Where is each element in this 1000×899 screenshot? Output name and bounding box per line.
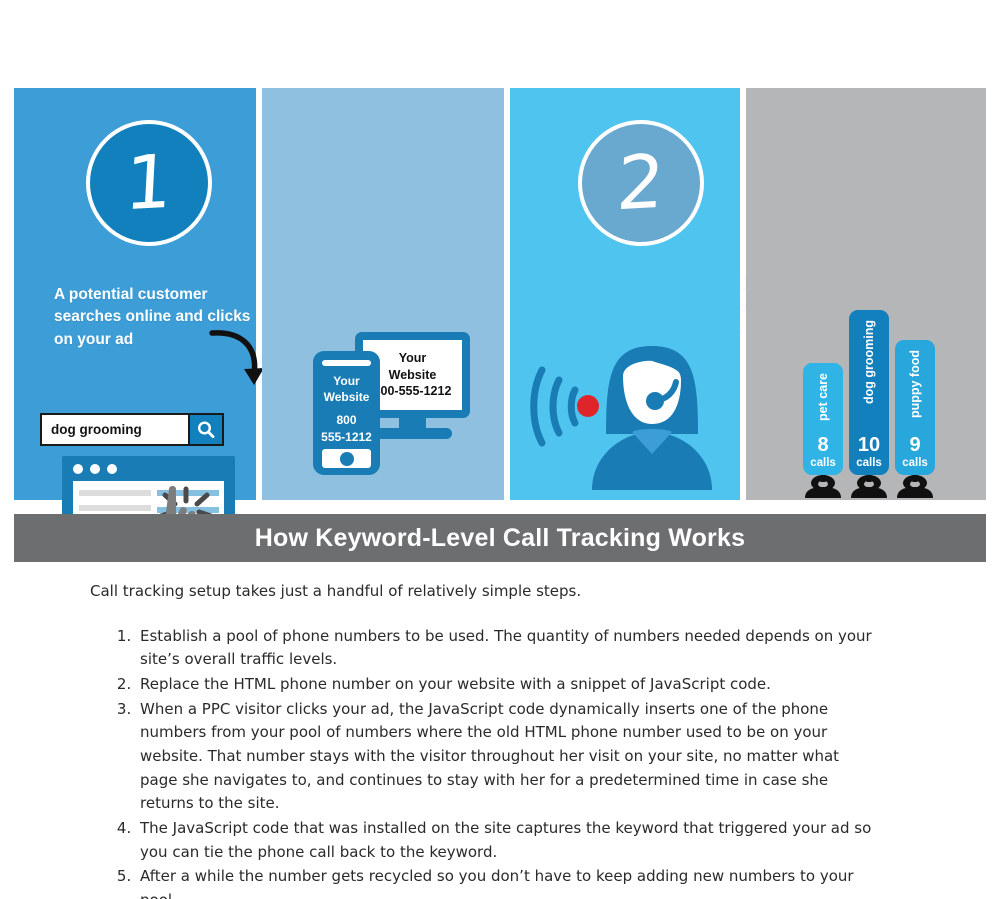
recording-indicator-icon	[577, 395, 599, 417]
result-line	[79, 505, 151, 511]
bar-unit: calls	[902, 457, 928, 469]
headset-mic	[646, 392, 664, 410]
bar-value: 9	[909, 435, 920, 455]
search-icon	[196, 420, 216, 440]
steps-list: Establish a pool of phone numbers to be …	[136, 625, 876, 899]
keyword-bar-dog-grooming: dog grooming 10 calls	[849, 310, 889, 475]
keyword-bar-puppy-food: puppy food 9 calls	[895, 340, 935, 475]
bar-unit: calls	[810, 457, 836, 469]
flow-arrow-icon	[208, 325, 266, 397]
infographic-page: dog grooming	[0, 0, 1000, 899]
monitor-base	[373, 428, 452, 439]
call-agent-illustration	[528, 338, 724, 490]
search-button[interactable]	[188, 415, 222, 444]
browser-dots	[73, 464, 117, 474]
title-banner: How Keyword-Level Call Tracking Works	[14, 514, 986, 562]
bar-label: puppy food	[908, 350, 922, 418]
step-number-circle-2: 2	[578, 120, 704, 246]
phone-number-part-2: 555-1212	[313, 429, 380, 445]
monitor-phone-number: 800-555-1212	[374, 383, 452, 400]
list-item: After a while the number gets recycled s…	[136, 865, 876, 899]
page-title: How Keyword-Level Call Tracking Works	[255, 524, 745, 553]
list-item: Replace the HTML phone number on your we…	[136, 673, 876, 697]
phone-screen-text: Your Website 800 555-1212	[313, 373, 380, 445]
intro-paragraph: Call tracking setup takes just a handful…	[90, 580, 1000, 603]
step-number-circle-1: 1	[86, 120, 212, 246]
bar-value: 10	[858, 435, 880, 455]
telephone-icon	[803, 474, 843, 500]
monitor-line-2: Website	[389, 367, 437, 384]
phone-line-2: Website	[313, 389, 380, 405]
article-body: Call tracking setup takes just a handful…	[0, 580, 1000, 899]
phone-home-button[interactable]	[322, 449, 371, 468]
step-number-1: 1	[123, 145, 174, 221]
monitor-line-1: Your	[399, 350, 427, 367]
phone-speaker	[322, 360, 371, 366]
bar-label: pet care	[816, 373, 830, 421]
step-panel-1: dog grooming	[14, 88, 256, 500]
search-input[interactable]: dog grooming	[42, 415, 188, 444]
home-button-dot	[340, 452, 354, 466]
list-item: When a PPC visitor clicks your ad, the J…	[136, 698, 876, 816]
bar-value: 8	[817, 435, 828, 455]
result-line	[79, 490, 151, 496]
step-number-2: 2	[615, 145, 666, 221]
mobile-phone-illustration: Your Website 800 555-1212	[313, 351, 380, 475]
phone-line-1: Your	[313, 373, 380, 389]
bar-unit: calls	[856, 457, 882, 469]
sound-waves-icon	[534, 370, 575, 443]
keyword-bar-pet-care: pet care 8 calls	[803, 363, 843, 475]
telephone-icon	[895, 474, 935, 500]
list-item: Establish a pool of phone numbers to be …	[136, 625, 876, 672]
telephone-icon	[849, 474, 889, 500]
browser-dot	[73, 464, 83, 474]
browser-dot	[90, 464, 100, 474]
steps-row: dog grooming	[0, 0, 1000, 505]
browser-dot	[107, 464, 117, 474]
list-item: The JavaScript code that was installed o…	[136, 817, 876, 864]
phone-number-part-1: 800	[313, 412, 380, 428]
search-box[interactable]: dog grooming	[40, 413, 224, 446]
bar-label: dog grooming	[862, 320, 876, 404]
